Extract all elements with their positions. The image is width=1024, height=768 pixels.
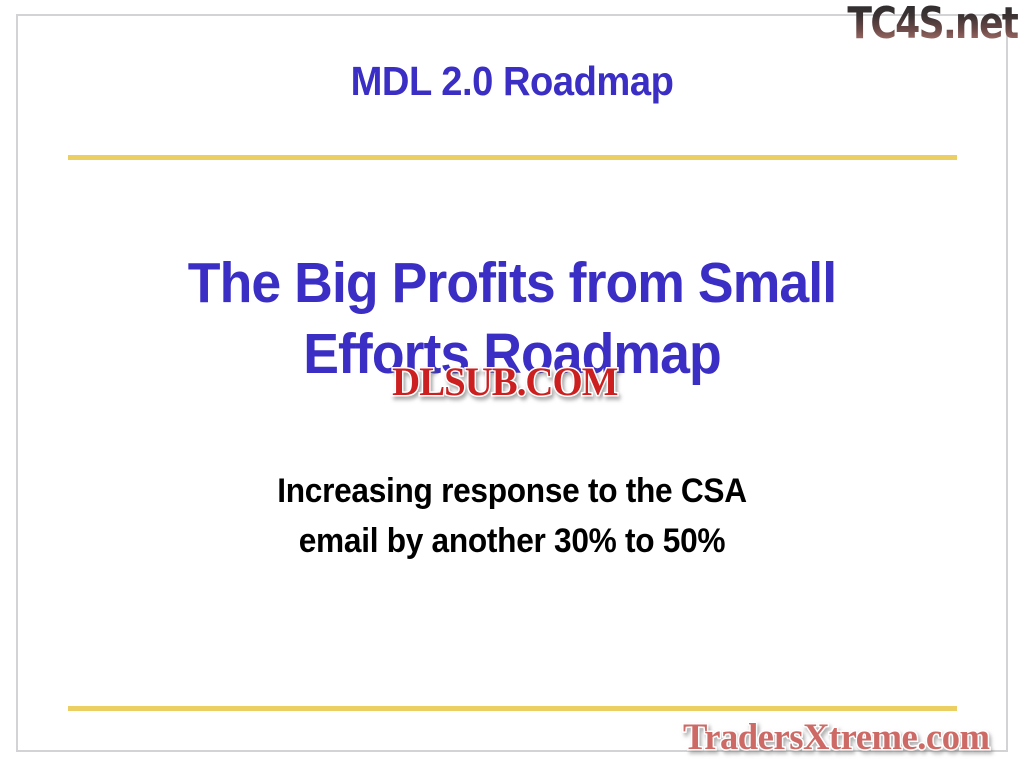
subtitle: Increasing response to the CSA email by …: [36, 466, 988, 566]
divider-top: [68, 155, 957, 160]
watermark-tradersxtreme: TradersXtreme.com: [683, 718, 990, 758]
subtitle-line-2: email by another 30% to 50%: [36, 516, 988, 566]
page-title: MDL 2.0 Roadmap: [36, 58, 988, 105]
main-title-line-1: The Big Profits from Small: [31, 248, 994, 319]
watermark-dlsub: DLSUB.COM: [368, 360, 642, 404]
subtitle-line-1: Increasing response to the CSA: [36, 466, 988, 516]
watermark-tc4s: TC4S.net: [848, 1, 1018, 47]
divider-bottom: [68, 706, 957, 711]
